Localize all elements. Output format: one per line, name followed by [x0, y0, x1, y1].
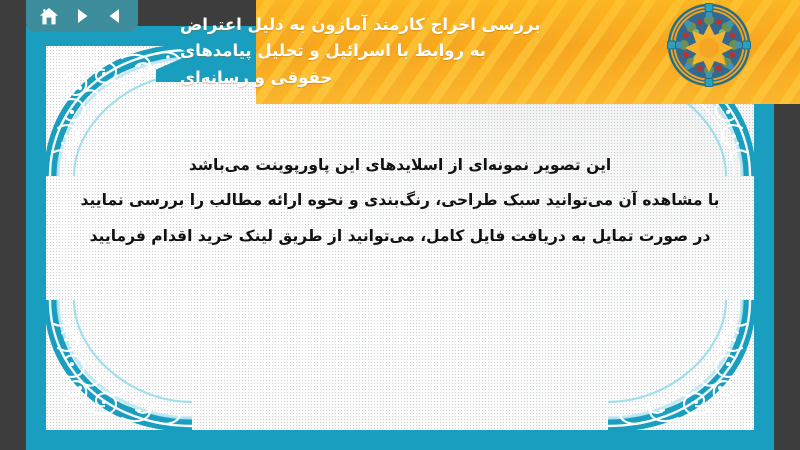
right-arrow-icon [73, 7, 91, 25]
slide-body-text: این تصویر نمونه‌ای از اسلایدهای این پاور… [66, 154, 734, 248]
islamic-mandala-ornament-icon [666, 2, 752, 88]
title-line-1: بررسی اخراج کارمند آمازون به دلیل اعتراض [180, 12, 541, 37]
body-line-1: این تصویر نمونه‌ای از اسلایدهای این پاور… [189, 154, 611, 177]
body-line-3: در صورت تمایل به دریافت فایل کامل، می‌تو… [90, 225, 711, 248]
slide-viewer: این تصویر نمونه‌ای از اسلایدهای این پاور… [0, 0, 800, 450]
home-icon [39, 7, 59, 26]
slide-title-banner: بررسی اخراج کارمند آمازون به دلیل اعتراض… [156, 0, 800, 104]
left-arrow-icon [106, 7, 124, 25]
home-button[interactable] [36, 3, 62, 29]
title-line-2: به روابط با اسرائیل و تحلیل پیامدهای [180, 38, 486, 63]
title-line-3: حقوقی و رسانه‌ای [180, 65, 332, 90]
previous-slide-button[interactable] [102, 3, 128, 29]
body-line-2: با مشاهده آن می‌توانید سبک طراحی، رنگ‌بن… [81, 189, 720, 212]
slide-navigation-bar [26, 0, 138, 32]
next-slide-button[interactable] [69, 3, 95, 29]
